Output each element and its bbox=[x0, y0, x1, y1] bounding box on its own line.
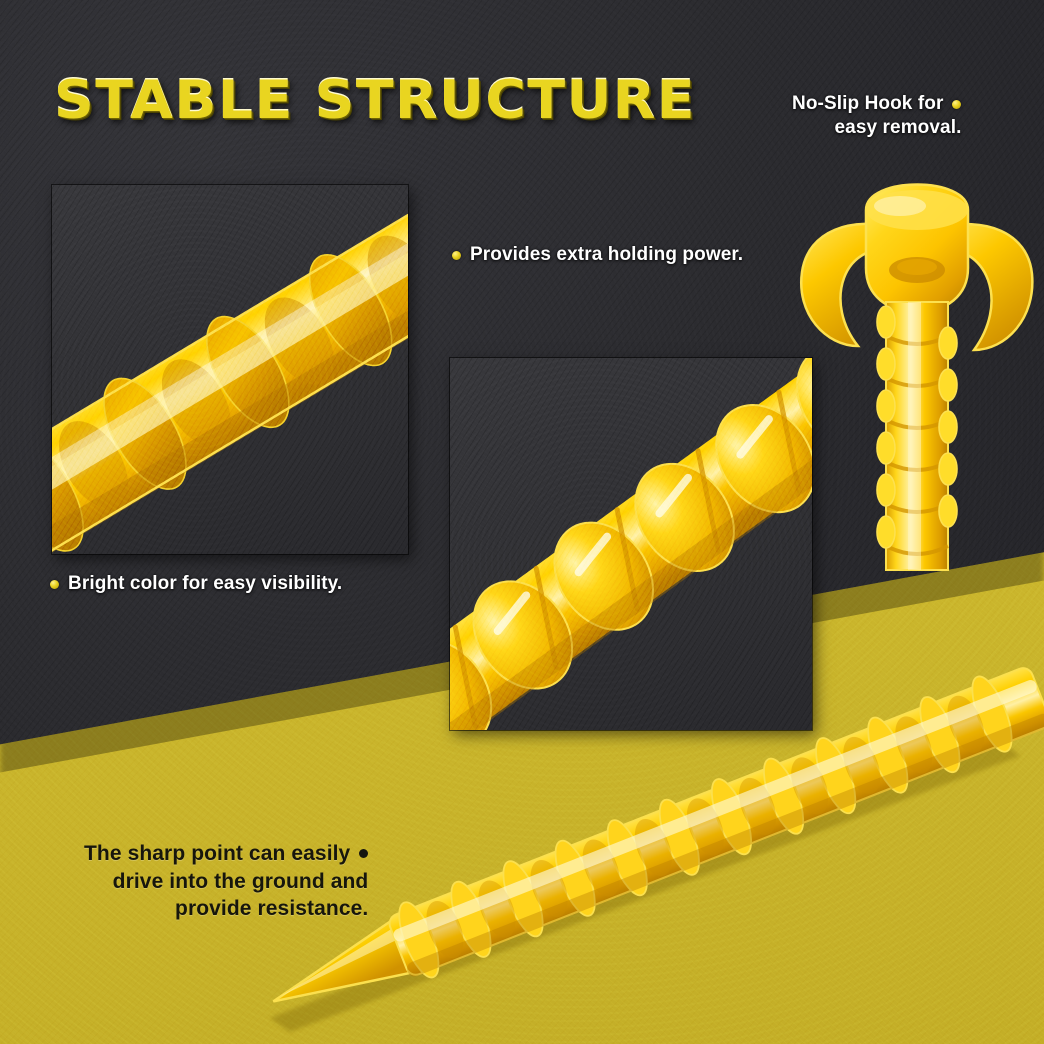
callout-holding-line1: Provides extra holding power. bbox=[470, 243, 743, 267]
hook-screw-illustration bbox=[780, 150, 1044, 580]
stake-shade bbox=[405, 712, 1044, 979]
head-recess-inner bbox=[897, 259, 937, 275]
bullet-dot-yellow-icon bbox=[952, 100, 961, 109]
callout-bright-line1: Bright color for easy visibility. bbox=[68, 572, 342, 596]
callout-hook-line2: easy removal. bbox=[792, 116, 961, 140]
panel-grain-texture bbox=[52, 185, 408, 554]
panel-thread-closeup bbox=[52, 185, 408, 554]
callout-line-row: The sharp point can easily bbox=[84, 840, 368, 868]
stake-highlight bbox=[392, 678, 1039, 943]
bullet-dot-yellow-icon bbox=[452, 251, 461, 260]
callout-sharp-line1: The sharp point can easily bbox=[84, 840, 350, 868]
callout-no-slip-hook: No-Slip Hook for easy removal. bbox=[792, 92, 961, 141]
bullet-dot-yellow-icon bbox=[50, 580, 59, 589]
stake-body-group bbox=[257, 658, 1044, 1035]
page-title: STABLE STRUCTURE bbox=[54, 74, 696, 127]
product-infographic: STABLE STRUCTURE bbox=[0, 0, 1044, 1044]
callout-bright-color: Bright color for easy visibility. bbox=[50, 572, 342, 596]
callout-hook-line1: No-Slip Hook for bbox=[792, 92, 943, 116]
callout-line-row: Bright color for easy visibility. bbox=[50, 572, 342, 596]
callout-line-row: No-Slip Hook for bbox=[792, 92, 961, 116]
callout-line-row: Provides extra holding power. bbox=[452, 243, 743, 267]
head-highlight bbox=[874, 196, 926, 216]
callout-holding-power: Provides extra holding power. bbox=[452, 243, 743, 267]
callout-sharp-point: The sharp point can easily drive into th… bbox=[84, 840, 368, 923]
bullet-dot-dark-icon bbox=[359, 849, 368, 858]
hook-threaded-shaft bbox=[877, 302, 957, 570]
callout-sharp-line2: drive into the ground and bbox=[84, 868, 368, 896]
callout-sharp-line3: provide resistance. bbox=[84, 895, 368, 923]
